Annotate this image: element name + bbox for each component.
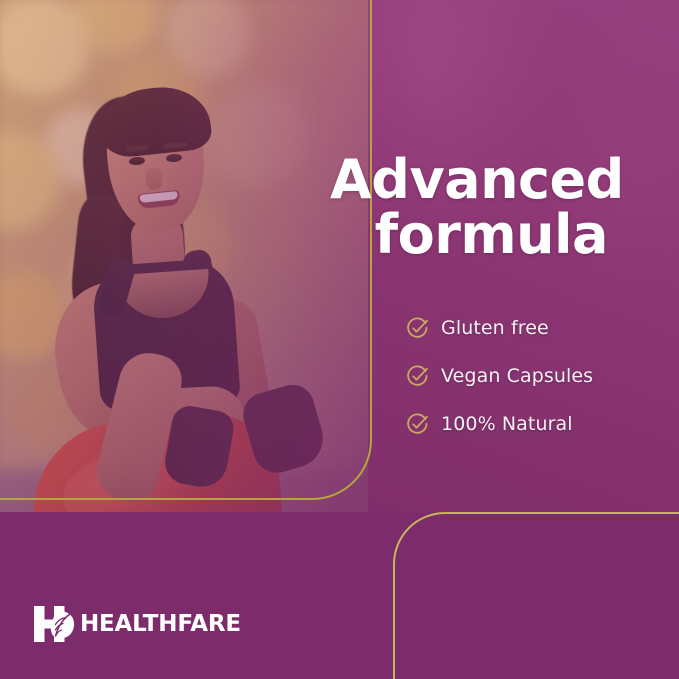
product-banner: Advanced formula Gluten free Vegan Capsu…	[0, 0, 679, 679]
h-leaf-logo-icon	[32, 603, 78, 645]
feature-list: Gluten free Vegan Capsules 100% Natural	[406, 304, 646, 448]
feature-label: Gluten free	[441, 317, 549, 339]
logo-wordmark: HEALTHFARE	[80, 613, 241, 636]
check-circle-icon	[406, 413, 429, 436]
feature-label: 100% Natural	[441, 413, 573, 435]
check-circle-icon	[406, 365, 429, 388]
feature-label: Vegan Capsules	[441, 365, 593, 387]
feature-item-vegan-capsules: Vegan Capsules	[406, 352, 646, 400]
headline-line-2: formula	[330, 207, 608, 262]
bottom-color-band	[0, 512, 679, 679]
feature-item-gluten-free: Gluten free	[406, 304, 646, 352]
headline-line-1: Advanced	[330, 148, 624, 211]
feature-item-100-natural: 100% Natural	[406, 400, 646, 448]
check-circle-icon	[406, 317, 429, 340]
page-title: Advanced formula	[330, 152, 608, 262]
brand-logo: HEALTHFARE	[32, 603, 241, 645]
